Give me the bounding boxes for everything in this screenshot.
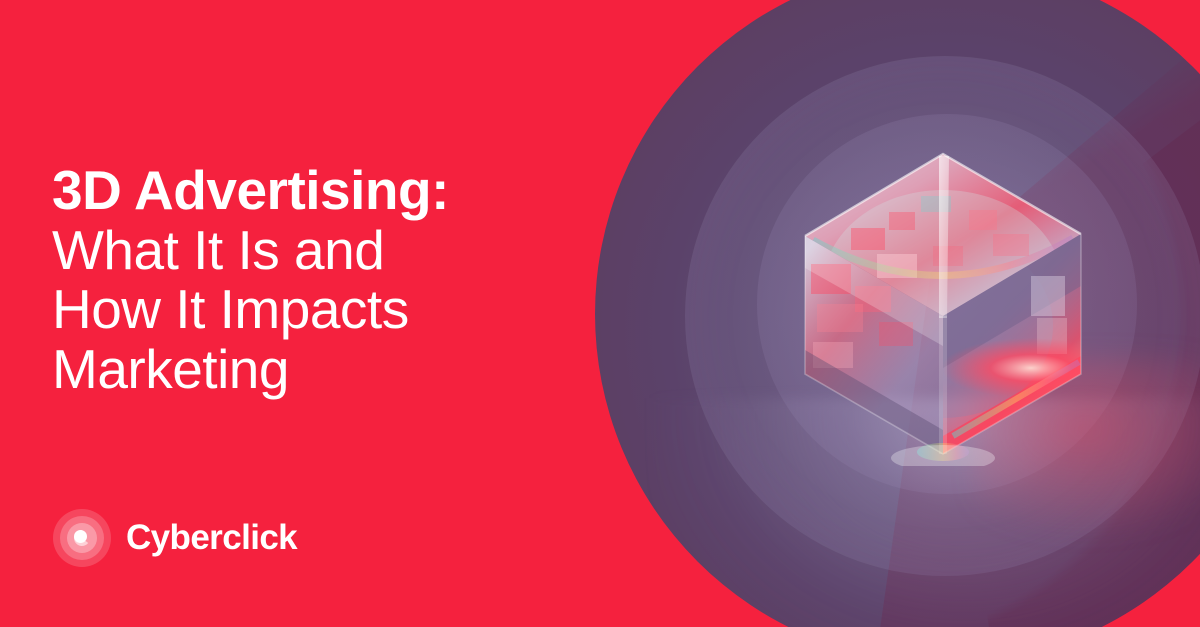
glass-cube-icon <box>793 136 1093 466</box>
blog-cover-canvas: 3D Advertising: What It Is and How It Im… <box>0 0 1200 627</box>
headline-line-4: Marketing <box>52 340 592 399</box>
headline-line-1: 3D Advertising: <box>52 161 592 220</box>
cyberclick-circles-icon <box>52 508 112 568</box>
artwork-circle <box>595 0 1200 627</box>
page-title: 3D Advertising: What It Is and How It Im… <box>52 161 592 399</box>
headline-line-3: How It Impacts <box>52 280 592 339</box>
brand-logo[interactable]: Cyberclick <box>52 508 297 568</box>
brand-wordmark: Cyberclick <box>126 518 297 558</box>
headline-line-2: What It Is and <box>52 221 592 280</box>
